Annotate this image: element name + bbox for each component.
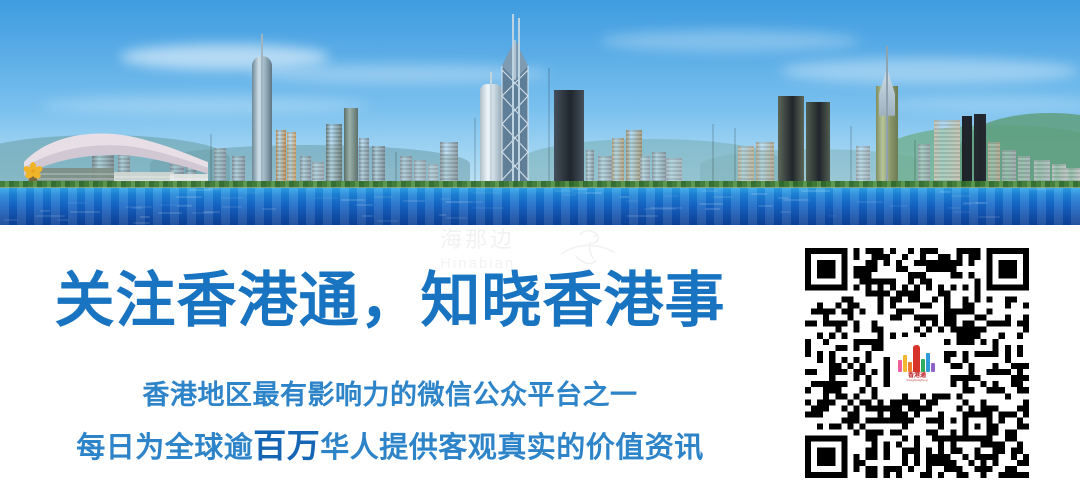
building [934,120,960,186]
water-ripple [780,211,791,213]
logo-chinese-text: 香港通 [908,373,926,379]
water-ripple [953,211,971,213]
water-ripple [644,208,676,210]
water-ripple [663,195,679,197]
water-ripple [713,196,732,198]
water-ripple [554,190,573,192]
water-ripple [67,202,87,204]
logo-skyline-icon [897,344,937,372]
water-ripple [140,216,150,218]
water-ripple [4,219,18,221]
water-ripple [377,220,398,222]
water-ripple [626,200,638,202]
spire [886,46,888,186]
promo-copy: 关注香港通，知晓香港事 香港地区最有影响力的微信公众平台之一 每日为全球逾百万华… [0,225,780,503]
water-ripple [262,208,276,210]
building [806,102,830,186]
building [359,138,369,186]
building [902,140,916,186]
promo-panel: 海那边 Hinabian 关注香港通，知晓香港事 香港地区最有影响力的微信公众平… [0,225,1080,503]
building [440,142,458,186]
building [612,138,624,186]
building [988,142,1000,186]
water-ripple [35,215,65,217]
victoria-harbour-water [0,188,1080,225]
building [276,130,286,186]
water-ripple [208,188,220,190]
water-ripple [132,207,142,209]
water-ripple [783,199,809,201]
water-ripple [58,219,69,221]
building [756,142,774,186]
water-ripple [627,215,658,217]
building [856,146,870,186]
subtitle-emphasis: 百万 [253,426,320,465]
water-ripple [341,199,365,201]
water-ripple [222,206,242,208]
water-ripple [356,204,373,206]
water-ripple [1029,188,1054,190]
building [918,144,930,186]
water-ripple [801,190,830,192]
water-ripple [403,200,425,202]
water-ripple [158,212,182,214]
water-ripple [314,197,338,199]
water-ripple [192,212,214,214]
building [458,118,476,186]
water-ripple [362,215,373,217]
hong-kong-tong-logo: 香港通 XiangGangTong [893,339,941,387]
water-ripple [939,191,951,193]
water-ripple [446,201,473,203]
water-ripple [446,217,467,219]
subtitle-prefix: 每日为全球逾 [76,430,253,464]
water-ripple [978,216,1000,218]
water-ripple [951,195,971,197]
water-ripple [440,198,451,200]
convention-centre [20,128,210,186]
water-ripple [473,192,501,194]
building [344,108,358,186]
subtitle-line-1: 香港地区最有影响力的微信公众平台之一 [0,373,780,412]
water-ripple [975,202,988,204]
subtitle-line-2: 每日为全球逾百万华人提供客观真实的价值资讯 [0,419,780,467]
hong-kong-skyline-photo [0,0,1080,225]
building [326,124,342,186]
spire [261,34,263,186]
water-ripple [160,204,192,206]
building [778,96,804,186]
water-ripple [562,194,576,196]
building [962,116,972,186]
page-title: 关注香港通，知晓香港事 [0,270,780,333]
water-ripple [620,196,629,198]
water-ripple [751,193,767,195]
water-ripple [473,207,504,209]
building [836,126,852,186]
water-ripple [857,201,883,203]
water-ripple [245,192,258,194]
water-ripple [889,205,908,207]
city-buildings [0,0,1080,186]
water-ripple [948,207,961,209]
water-ripple [374,196,393,198]
water-ripple [572,188,588,190]
water-ripple [176,196,202,198]
building [690,124,714,186]
water-ripple [70,211,100,213]
subtitle-suffix: 华人提供客观真实的价值资讯 [320,430,704,464]
water-ripple [40,210,50,212]
water-ripple [221,197,244,199]
spire [518,18,520,186]
water-ripple [828,215,837,217]
building [287,132,296,186]
building [974,114,986,186]
spire [490,72,492,186]
water-ripple [473,201,483,203]
water-ripple [758,205,773,207]
bank-of-china-tower [498,40,532,186]
water-ripple [439,214,446,216]
banner-image: 海那边 Hinabian 关注香港通，知晓香港事 香港地区最有影响力的微信公众平… [0,0,1080,503]
building [738,146,754,186]
water-ripple [701,190,718,192]
logo-pinyin-text: XiangGangTong [906,380,927,383]
spire [512,14,514,186]
water-ripple [962,203,971,205]
water-ripple [705,208,720,210]
water-ripple [699,203,723,205]
water-ripple [133,222,150,224]
water-ripple [572,192,589,194]
building [554,90,584,186]
building [716,128,736,186]
wechat-qr-code[interactable]: 香港通 XiangGangTong [805,248,1029,478]
building [372,146,385,186]
